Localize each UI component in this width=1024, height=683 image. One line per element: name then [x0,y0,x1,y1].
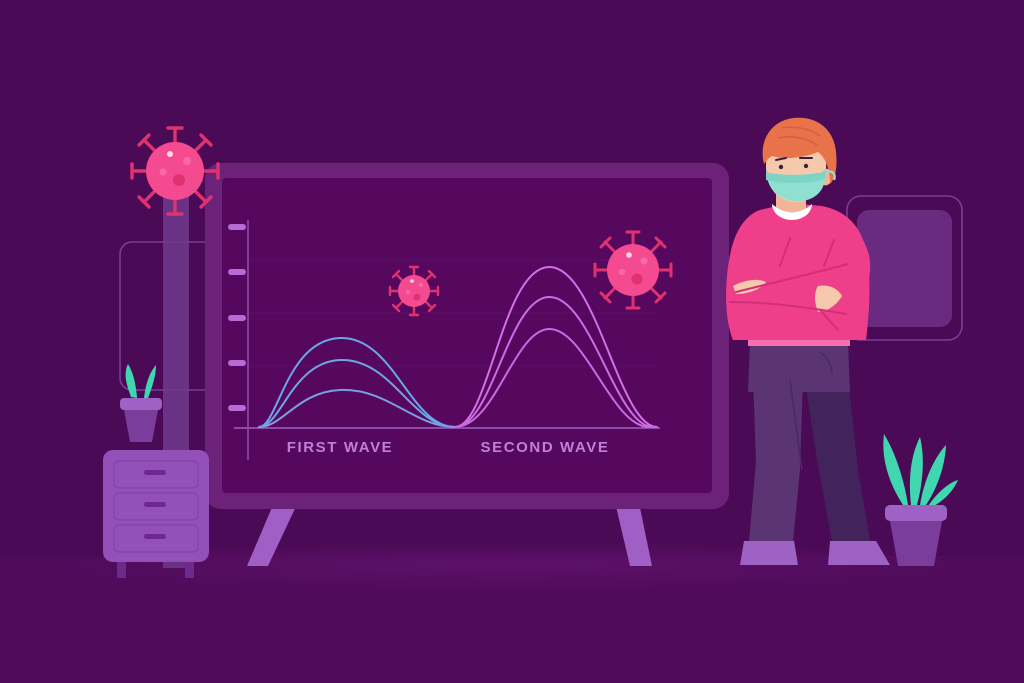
virus-small-spot-3 [406,290,410,294]
label-second-wave: SECOND WAVE [480,439,609,456]
y-tick-2 [228,360,246,366]
virus-small-spot-2 [419,283,423,287]
plant-large-pot [890,521,942,566]
virus-large-spot-4 [167,151,173,157]
dresser [103,450,209,578]
eye-left [779,165,783,169]
virus-medium [595,232,671,308]
dresser-handle-2 [144,502,166,507]
virus-medium-spot-3 [619,269,625,275]
dresser-handle-1 [144,470,166,475]
virus-medium-spot-4 [626,252,632,258]
virus-large [132,128,218,214]
virus-small-spot-4 [410,279,414,283]
dresser-handle-3 [144,534,166,539]
virus-large-spot-2 [183,157,191,165]
virus-small-body [398,275,430,307]
wall-panel-right [857,210,952,327]
virus-medium-spot-2 [640,257,647,264]
virus-small-spot-1 [414,294,421,301]
y-tick-1 [228,405,246,411]
virus-large-spot-3 [160,169,167,176]
virus-large-body [146,142,204,200]
y-tick-5 [228,224,246,230]
virus-medium-spot-1 [632,274,643,285]
virus-small [390,267,438,315]
eye-right [804,164,808,168]
plant-small-pot-rim [120,398,162,410]
y-tick-4 [228,269,246,275]
illustration-canvas: FIRST WAVE SECOND WAVE [0,0,1024,683]
y-tick-3 [228,315,246,321]
plant-small-pot [124,410,158,442]
shoe-left [740,541,798,565]
plant-large-pot-rim [885,505,947,521]
pants-hip [748,342,850,392]
virus-medium-body [607,244,659,296]
label-first-wave: FIRST WAVE [287,439,394,456]
scene-svg: FIRST WAVE SECOND WAVE [0,0,1024,683]
tv: FIRST WAVE SECOND WAVE [205,163,729,566]
virus-large-spot-1 [173,174,185,186]
